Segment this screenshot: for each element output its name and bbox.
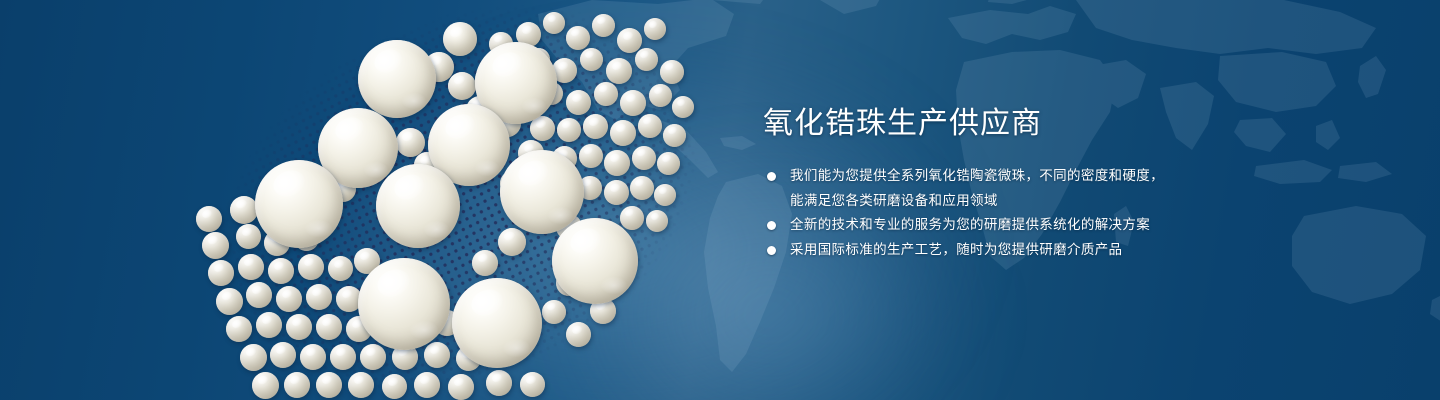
list-item: 采用国际标准的生产工艺，随时为您提供研磨介质产品 [763,238,1403,263]
bullet-dot-icon [767,221,776,230]
list-item-line: 能满足您各类研磨设备和应用领域 [790,189,1403,214]
page-title: 氧化锆珠生产供应商 [763,104,1403,144]
banner-copy: 氧化锆珠生产供应商 我们能为您提供全系列氧化锆陶瓷微珠，不同的密度和硬度， 能满… [763,104,1403,262]
bullet-dot-icon [767,246,776,255]
bullet-dot-icon [767,172,776,181]
list-item: 我们能为您提供全系列氧化锆陶瓷微珠，不同的密度和硬度， 能满足您各类研磨设备和应… [763,164,1403,213]
list-item: 全新的技术和专业的服务为您的研磨提供系统化的解决方案 [763,213,1403,238]
list-item-line: 我们能为您提供全系列氧化锆陶瓷微珠，不同的密度和硬度， [790,164,1403,189]
list-item-line: 全新的技术和专业的服务为您的研磨提供系统化的解决方案 [790,213,1403,238]
list-item-line: 采用国际标准的生产工艺，随时为您提供研磨介质产品 [790,238,1403,263]
feature-list: 我们能为您提供全系列氧化锆陶瓷微珠，不同的密度和硬度， 能满足您各类研磨设备和应… [763,164,1403,262]
hero-banner: 氧化锆珠生产供应商 我们能为您提供全系列氧化锆陶瓷微珠，不同的密度和硬度， 能满… [0,0,1440,400]
